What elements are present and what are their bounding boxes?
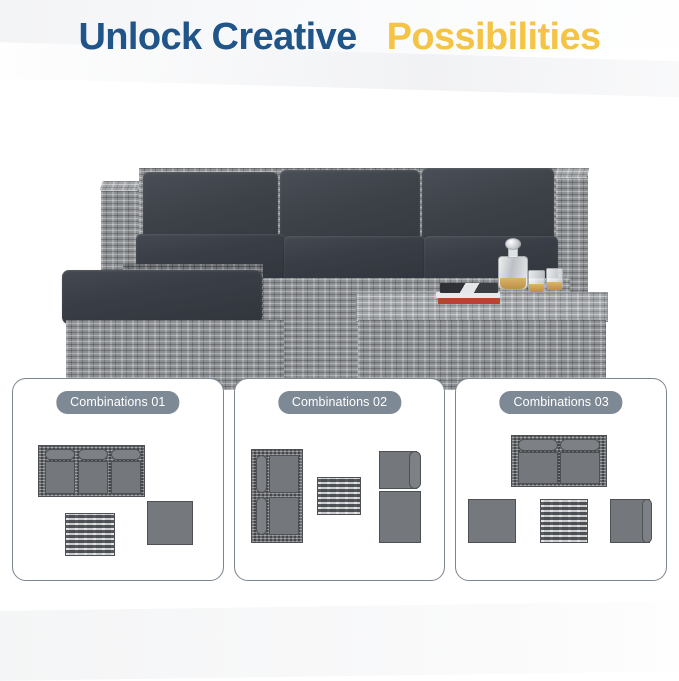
- combination-diagram-02: [243, 421, 437, 572]
- combination-card-01[interactable]: Combinations 01: [12, 378, 224, 581]
- diagram-pillow-2: [560, 439, 600, 451]
- whisky-tumbler-right-liquid: [547, 282, 562, 290]
- diagram-v-seat-2: [269, 497, 299, 535]
- seat-cushion-middle: [284, 236, 426, 282]
- diagram-seat-2: [78, 461, 108, 494]
- glass-decanter-stopper: [505, 238, 521, 250]
- combination-card-02[interactable]: Combinations 02: [234, 378, 446, 581]
- combination-diagram-01: [21, 421, 215, 572]
- whisky-tumbler-left-liquid: [529, 284, 544, 292]
- combination-label-03: Combinations 03: [500, 391, 623, 414]
- left-armrest-top: [100, 181, 141, 191]
- combination-label-02: Combinations 02: [278, 391, 401, 414]
- diagram-coffee-table: [317, 477, 361, 515]
- diagram-coffee-table: [540, 499, 588, 543]
- diagram-v-pillow-2: [256, 497, 267, 535]
- page-title-accent: Possibilities: [387, 16, 601, 58]
- diagram-coffee-table: [65, 513, 115, 556]
- diagram-seat-1: [518, 452, 558, 484]
- diagram-v-seat-1: [269, 455, 299, 493]
- diagram-pillow-3: [111, 449, 141, 460]
- diagram-side-table: [147, 501, 193, 545]
- glass-decanter-liquid: [500, 278, 526, 289]
- diagram-pillow-1: [518, 439, 558, 451]
- book-top: [440, 283, 498, 293]
- page-title-primary: Unlock Creative: [78, 16, 356, 58]
- page-title: Unlock Creative Possibilities: [0, 0, 679, 60]
- right-armrest-top: [555, 168, 589, 178]
- diagram-seat-2: [560, 452, 600, 484]
- diagram-side-table: [468, 499, 516, 543]
- diagram-seat-3: [111, 461, 141, 494]
- hero-product-image: [0, 64, 679, 364]
- diagram-seat-1: [45, 461, 75, 494]
- diagram-single-seat: [379, 491, 421, 543]
- diagram-pillow-2: [78, 449, 108, 460]
- combination-diagram-03: [464, 421, 658, 572]
- combination-label-01: Combinations 01: [56, 391, 179, 414]
- diagram-corner-arm: [642, 499, 652, 543]
- ottoman-cushion: [62, 270, 262, 324]
- combination-card-03[interactable]: Combinations 03: [455, 378, 667, 581]
- combinations-section: Combinations 01 Combinations 02: [0, 378, 679, 581]
- diagram-pillow-1: [45, 449, 75, 460]
- background-band-bottom: [0, 601, 679, 681]
- diagram-corner-arm: [409, 451, 421, 489]
- book-bottom: [438, 298, 500, 304]
- diagram-v-pillow-1: [256, 455, 267, 493]
